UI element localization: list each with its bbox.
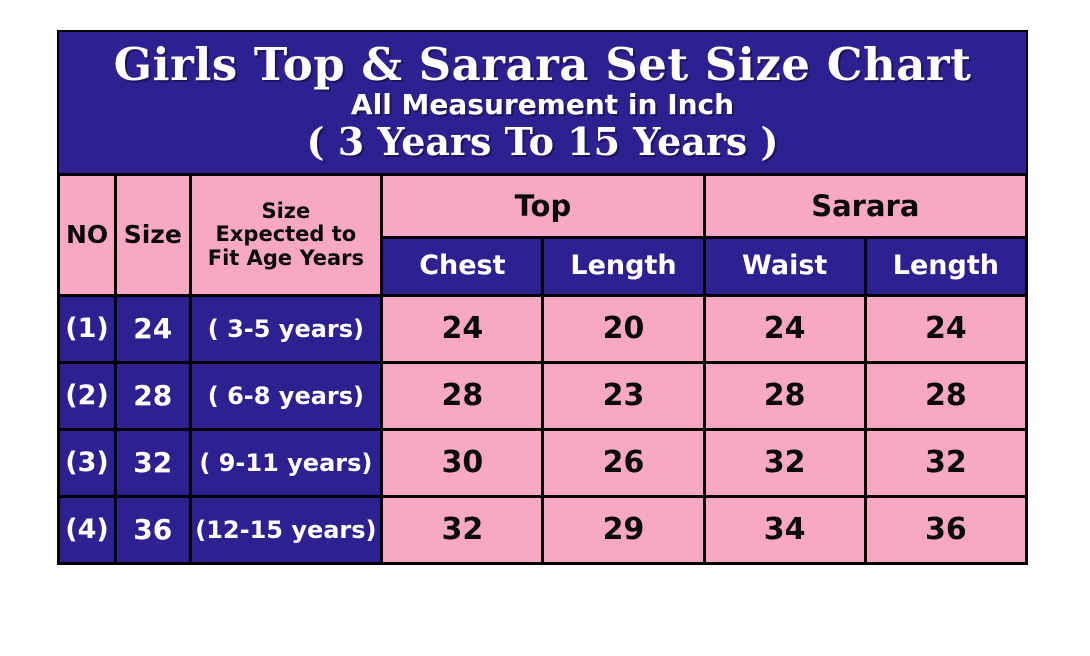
column-header-sarara-length: Length (867, 239, 1025, 294)
column-header-top-chest: Chest (383, 239, 541, 294)
column-header-size: Size (117, 176, 188, 294)
age-range-note: ( 3 Years To 15 Years ) (59, 119, 1026, 163)
column-header-age-line3: Fit Age Years (192, 247, 381, 271)
table-row: (3) 32 ( 9-11 years) 30 26 32 32 (60, 431, 1025, 495)
table-header-row-1: NO Size Size Expected to Fit Age Years T… (60, 176, 1025, 236)
cell-sarara-waist: 24 (706, 297, 864, 361)
cell-top-length: 20 (544, 297, 702, 361)
column-header-top-length: Length (544, 239, 702, 294)
cell-no: (3) (60, 431, 114, 495)
cell-top-chest: 30 (383, 431, 541, 495)
column-header-age-line1: Size (192, 200, 381, 224)
page-title: Girls Top & Sarara Set Size Chart (59, 38, 1026, 89)
table-row: (1) 24 ( 3-5 years) 24 20 24 24 (60, 297, 1025, 361)
cell-no: (1) (60, 297, 114, 361)
column-header-age: Size Expected to Fit Age Years (192, 176, 381, 294)
cell-sarara-length: 32 (867, 431, 1025, 495)
chart-title-banner: Girls Top & Sarara Set Size Chart All Me… (57, 30, 1028, 173)
cell-no: (2) (60, 364, 114, 428)
cell-sarara-length: 24 (867, 297, 1025, 361)
cell-size: 24 (117, 297, 188, 361)
cell-size: 36 (117, 498, 188, 562)
cell-top-chest: 24 (383, 297, 541, 361)
cell-sarara-waist: 32 (706, 431, 864, 495)
cell-sarara-length: 36 (867, 498, 1025, 562)
table-row: (2) 28 ( 6-8 years) 28 23 28 28 (60, 364, 1025, 428)
group-header-top: Top (383, 176, 702, 236)
cell-size: 32 (117, 431, 188, 495)
cell-age: (12-15 years) (192, 498, 381, 562)
cell-top-length: 23 (544, 364, 702, 428)
cell-sarara-length: 28 (867, 364, 1025, 428)
column-header-age-line2: Expected to (192, 223, 381, 247)
cell-top-length: 29 (544, 498, 702, 562)
cell-age: ( 6-8 years) (192, 364, 381, 428)
measurement-unit-note: All Measurement in Inch (59, 89, 1026, 119)
column-header-sarara-waist: Waist (706, 239, 864, 294)
size-chart-table: NO Size Size Expected to Fit Age Years T… (57, 173, 1028, 565)
cell-no: (4) (60, 498, 114, 562)
table-row: (4) 36 (12-15 years) 32 29 34 36 (60, 498, 1025, 562)
cell-size: 28 (117, 364, 188, 428)
cell-sarara-waist: 34 (706, 498, 864, 562)
group-header-sarara: Sarara (706, 176, 1025, 236)
cell-age: ( 9-11 years) (192, 431, 381, 495)
cell-sarara-waist: 28 (706, 364, 864, 428)
cell-top-chest: 28 (383, 364, 541, 428)
column-header-no: NO (60, 176, 114, 294)
cell-top-chest: 32 (383, 498, 541, 562)
cell-top-length: 26 (544, 431, 702, 495)
cell-age: ( 3-5 years) (192, 297, 381, 361)
size-chart-container: Girls Top & Sarara Set Size Chart All Me… (57, 30, 1028, 565)
